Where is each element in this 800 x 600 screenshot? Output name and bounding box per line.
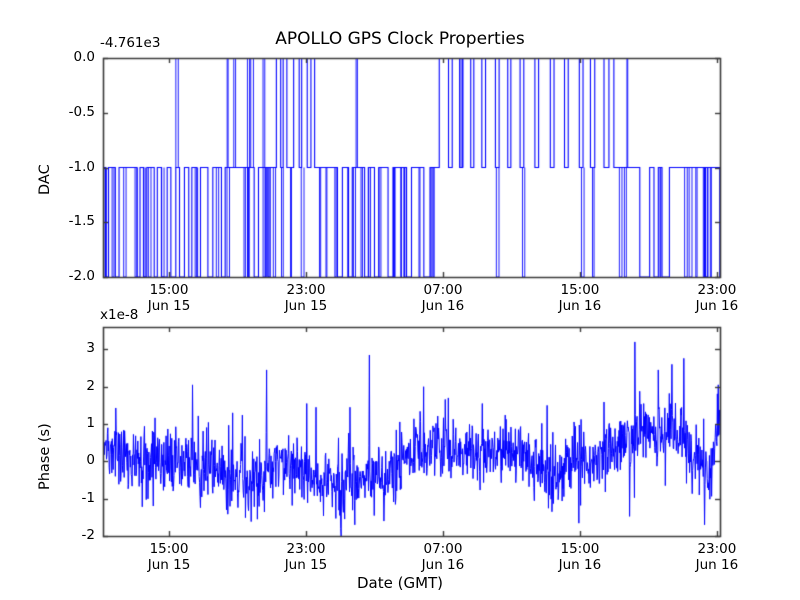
dac-xtick-1: 23:00Jun 15 [246,284,366,313]
phase-xtick-date-2: Jun 16 [383,559,503,573]
dac-ytick-3: -1.5 [35,215,95,229]
dac-xtick-date-2: Jun 16 [383,300,503,314]
phase-xtick-date-3: Jun 16 [520,559,640,573]
phase-xtick-0: 15:00Jun 15 [109,543,229,572]
phase-xtick-time-0: 15:00 [109,543,229,557]
phase-ytick-1: -1 [35,492,95,506]
phase-xtick-3: 15:00Jun 16 [520,543,640,572]
dac-xtick-time-4: 23:00 [657,284,777,298]
phase-xtick-2: 07:00Jun 16 [383,543,503,572]
matplotlib-figure: APOLLO GPS Clock Properties -4.761e3 x1e… [0,0,800,600]
dac-ytick-2: -1.0 [35,161,95,175]
dac-xtick-time-0: 15:00 [109,284,229,298]
dac-xtick-date-1: Jun 15 [246,300,366,314]
phase-ytick-2: 0 [35,454,95,468]
dac-xtick-date-3: Jun 16 [520,300,640,314]
phase-xtick-time-1: 23:00 [246,543,366,557]
phase-xtick-date-1: Jun 15 [246,559,366,573]
phase-xtick-date-0: Jun 15 [109,559,229,573]
dac-axis-offset-label: -4.761e3 [100,37,160,51]
x-axis-label: Date (GMT) [0,576,800,591]
dac-xtick-date-4: Jun 16 [657,300,777,314]
dac-ytick-0: 0.0 [35,51,95,65]
dac-ytick-1: -0.5 [35,106,95,120]
dac-xtick-time-1: 23:00 [246,284,366,298]
dac-ytick-4: -2.0 [35,270,95,284]
dac-xtick-3: 15:00Jun 16 [520,284,640,313]
phase-ytick-5: 3 [35,342,95,356]
phase-ytick-0: -2 [35,529,95,543]
dac-xtick-4: 23:00Jun 16 [657,284,777,313]
phase-ytick-3: 1 [35,417,95,431]
phase-xtick-date-4: Jun 16 [657,559,777,573]
dac-xtick-0: 15:00Jun 15 [109,284,229,313]
phase-xtick-time-4: 23:00 [657,543,777,557]
phase-ytick-4: 2 [35,380,95,394]
dac-xtick-time-3: 15:00 [520,284,640,298]
phase-xtick-time-2: 07:00 [383,543,503,557]
dac-xtick-time-2: 07:00 [383,284,503,298]
phase-xtick-1: 23:00Jun 15 [246,543,366,572]
phase-xtick-4: 23:00Jun 16 [657,543,777,572]
dac-xtick-date-0: Jun 15 [109,300,229,314]
phase-xtick-time-3: 15:00 [520,543,640,557]
dac-xtick-2: 07:00Jun 16 [383,284,503,313]
